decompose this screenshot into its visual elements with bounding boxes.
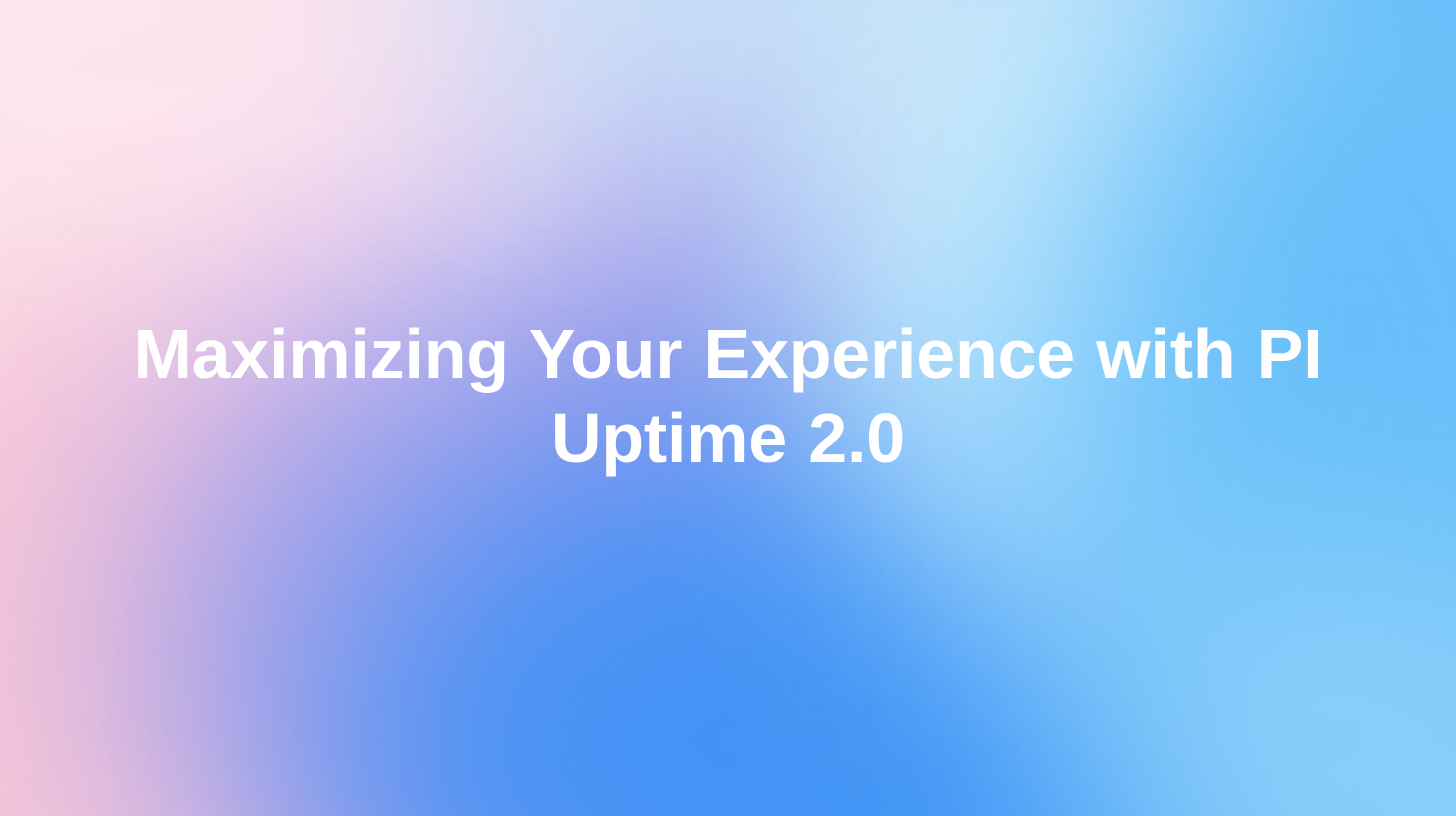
slide-title-line-1: Maximizing Your Experience with PI — [134, 315, 1323, 393]
title-slide: Maximizing Your Experience with PIUptime… — [0, 0, 1456, 816]
slide-title: Maximizing Your Experience with PIUptime… — [113, 312, 1343, 480]
title-block: Maximizing Your Experience with PIUptime… — [113, 312, 1343, 480]
slide-title-line-2: Uptime 2.0 — [551, 399, 905, 477]
